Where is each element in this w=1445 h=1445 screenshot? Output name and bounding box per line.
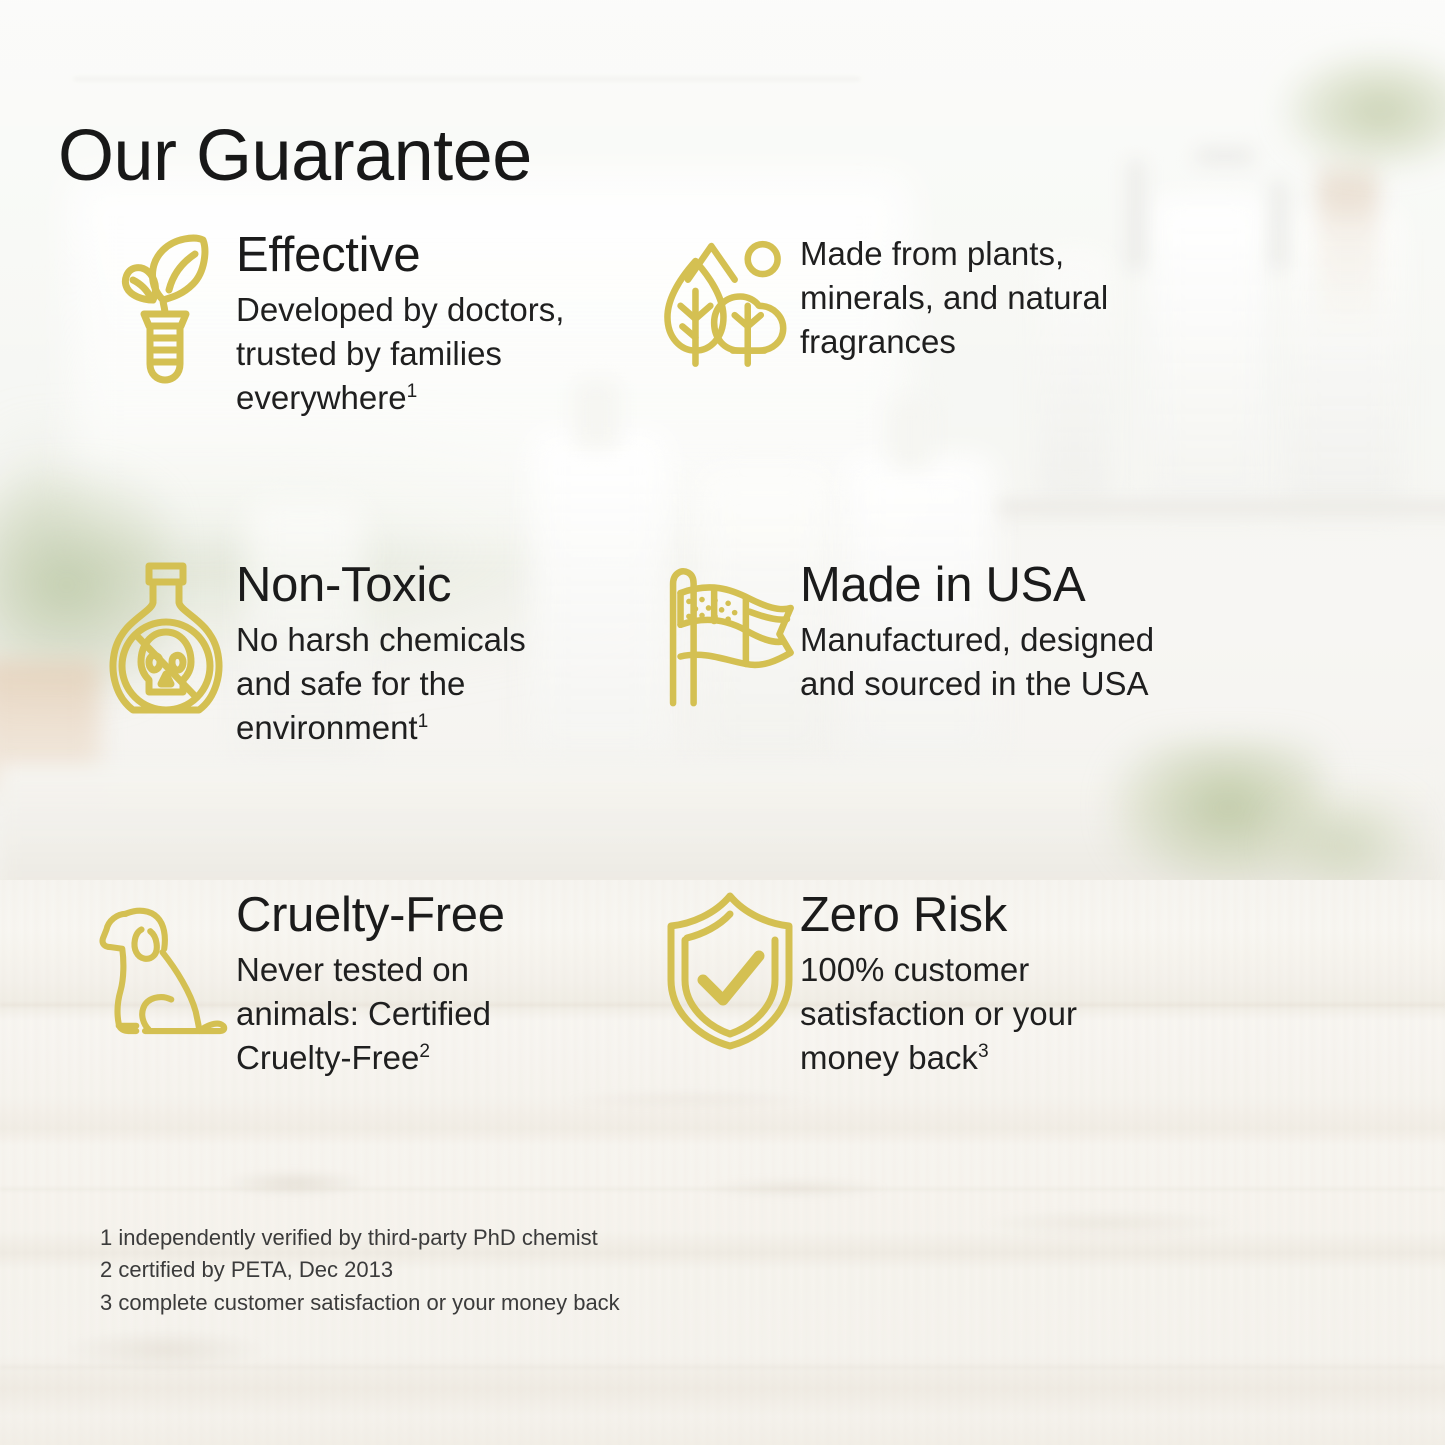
feature-text: Non-Toxic No harsh chemicals and safe fo… <box>236 558 640 750</box>
desc-line: 100% customer <box>800 951 1029 988</box>
feature-made-in-usa: Made in USA Manufactured, designed and s… <box>640 558 1340 888</box>
feature-text: Cruelty-Free Never tested on animals: Ce… <box>236 888 640 1080</box>
desc-line: Developed by doctors, <box>236 291 564 328</box>
features-grid: Effective Developed by doctors, trusted … <box>0 228 1445 1158</box>
features-row: Effective Developed by doctors, trusted … <box>0 228 1445 558</box>
page-title: Our Guarantee <box>58 120 532 192</box>
footnote-3: 3 complete customer satisfaction or your… <box>100 1287 620 1319</box>
usa-flag-icon <box>660 558 800 713</box>
footnote-ref: 3 <box>978 1041 989 1062</box>
feature-natural-ingredients: Made from plants, minerals, and natural … <box>640 228 1340 558</box>
desc-line: satisfaction or your <box>800 995 1077 1032</box>
feature-zero-risk: Zero Risk 100% customer satisfaction or … <box>640 888 1340 1158</box>
feature-text: Made from plants, minerals, and natural … <box>800 228 1340 364</box>
shield-check-icon <box>660 888 800 1053</box>
content-layer: Our Guarantee <box>0 0 1445 1445</box>
desc-line: Made from plants, <box>800 235 1064 272</box>
desc-line: trusted by families <box>236 335 502 372</box>
desc-line: and sourced in the USA <box>800 665 1149 702</box>
footnote-ref: 1 <box>418 711 429 732</box>
desc-line: everywhere <box>236 379 407 416</box>
poison-bottle-skull-icon <box>96 558 236 723</box>
desc-line: environment <box>236 709 418 746</box>
desc-line: and safe for the <box>236 665 465 702</box>
feature-title: Zero Risk <box>800 890 1340 942</box>
dog-icon <box>96 888 236 1048</box>
feature-title: Effective <box>236 230 640 282</box>
guarantee-infographic: Our Guarantee <box>0 0 1445 1445</box>
feature-title: Non-Toxic <box>236 560 640 612</box>
feature-non-toxic: Non-Toxic No harsh chemicals and safe fo… <box>0 558 640 888</box>
feature-description: Developed by doctors, trusted by familie… <box>236 288 640 420</box>
desc-line: No harsh chemicals <box>236 621 526 658</box>
desc-line: Never tested on <box>236 951 469 988</box>
desc-line: animals: Certified <box>236 995 491 1032</box>
feature-effective: Effective Developed by doctors, trusted … <box>0 228 640 558</box>
feature-title: Made in USA <box>800 560 1340 612</box>
desc-line: Manufactured, designed <box>800 621 1154 658</box>
feature-description: Manufactured, designed and sourced in th… <box>800 618 1340 706</box>
footnotes: 1 independently verified by third-party … <box>100 1222 620 1319</box>
desc-line: Cruelty-Free <box>236 1039 419 1076</box>
feature-text: Made in USA Manufactured, designed and s… <box>800 558 1340 706</box>
feature-description: No harsh chemicals and safe for the envi… <box>236 618 640 750</box>
footnote-1: 1 independently verified by third-party … <box>100 1222 620 1254</box>
feature-description: Never tested on animals: Certified Cruel… <box>236 948 640 1080</box>
footnote-ref: 2 <box>419 1041 430 1062</box>
footnote-2: 2 certified by PETA, Dec 2013 <box>100 1254 620 1286</box>
desc-line: money back <box>800 1039 978 1076</box>
feature-text: Zero Risk 100% customer satisfaction or … <box>800 888 1340 1080</box>
features-row: Cruelty-Free Never tested on animals: Ce… <box>0 888 1445 1158</box>
feature-text: Effective Developed by doctors, trusted … <box>236 228 640 420</box>
feature-description: 100% customer satisfaction or your money… <box>800 948 1340 1080</box>
feature-description: Made from plants, minerals, and natural … <box>800 230 1340 364</box>
test-tube-plant-icon <box>96 228 236 388</box>
feature-cruelty-free: Cruelty-Free Never tested on animals: Ce… <box>0 888 640 1158</box>
desc-line: minerals, and natural <box>800 279 1108 316</box>
desc-line: fragrances <box>800 323 956 360</box>
feature-title: Cruelty-Free <box>236 890 640 942</box>
features-row: Non-Toxic No harsh chemicals and safe fo… <box>0 558 1445 888</box>
trees-nature-icon <box>660 228 800 378</box>
footnote-ref: 1 <box>407 381 418 402</box>
